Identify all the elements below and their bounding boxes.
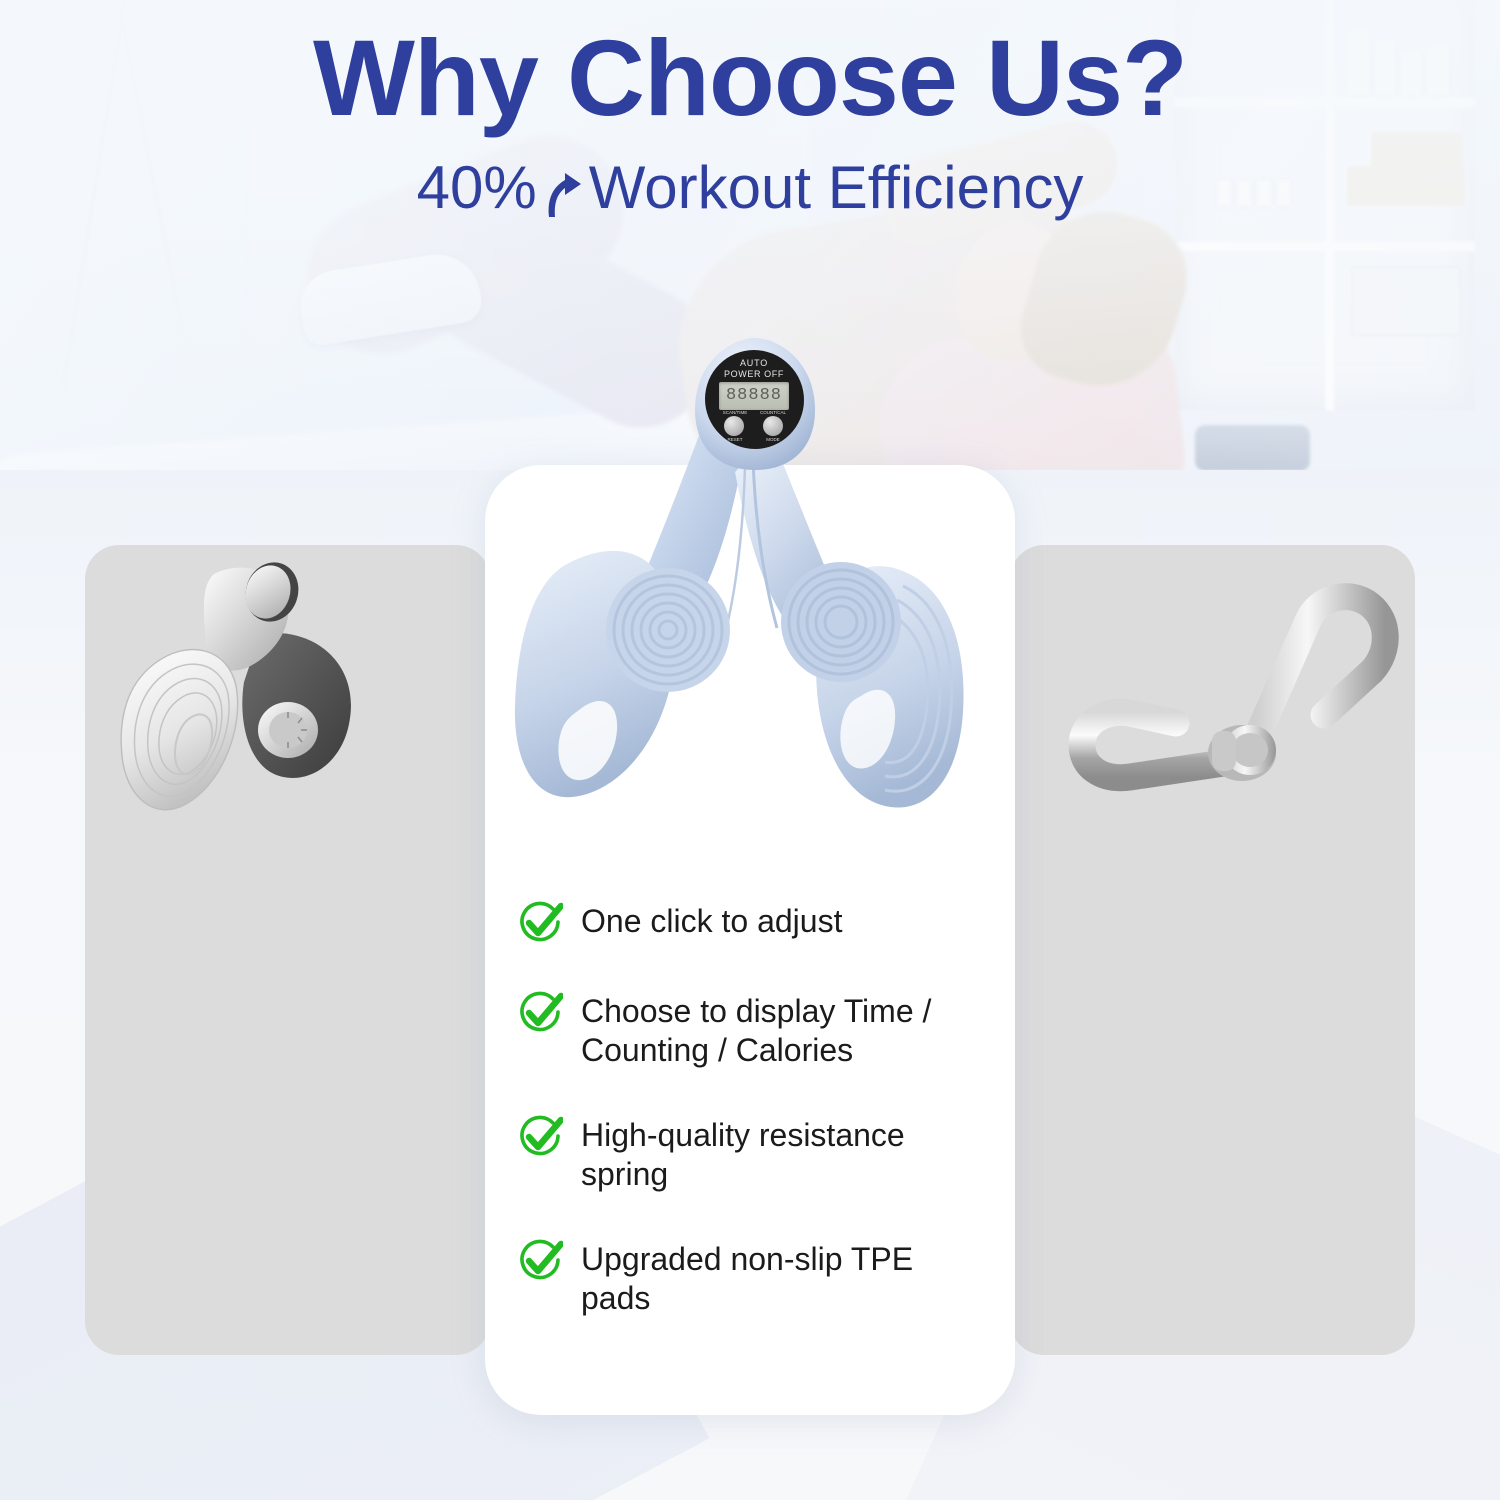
list-item: Choose to display Time / Counting / Calo… [517, 990, 987, 1070]
list-item: Upgraded non-slip TPE pads [517, 1238, 987, 1318]
page-title: Why Choose Us? [0, 0, 1500, 132]
display-power-off-label: POWER OFF [705, 369, 803, 379]
display-button-left-bottom-label: RESET [717, 437, 753, 442]
competitor-thigh-trainer-gray-image [110, 552, 370, 822]
display-button-right-bottom-label: MODE [755, 437, 791, 442]
display-button-right[interactable] [763, 416, 783, 436]
subtitle-text: Workout Efficiency [589, 158, 1084, 218]
list-item-label: High-quality resistance spring [581, 1114, 987, 1194]
list-item-label: One click to adjust [581, 900, 842, 941]
list-item: One click to adjust [517, 900, 987, 946]
check-circle-icon [517, 1238, 563, 1284]
display-button-left[interactable] [724, 416, 744, 436]
check-circle-icon [517, 1114, 563, 1160]
display-auto-label: AUTO [705, 358, 803, 368]
header: Why Choose Us? 40% Workout Efficiency [0, 0, 1500, 218]
page-subtitle: 40% Workout Efficiency [0, 132, 1500, 218]
featured-feature-list: One click to adjustChoose to display Tim… [485, 900, 1015, 1362]
arrow-up-trend-icon [539, 163, 587, 221]
product-display-module: AUTO POWER OFF 88888 SCAN/TIME RESET COU… [705, 350, 803, 448]
list-item-label: Choose to display Time / Counting / Calo… [581, 990, 987, 1070]
competitor-thigh-master-gray-image [1060, 575, 1425, 830]
check-circle-icon [517, 900, 563, 946]
display-lcd-value: 88888 [719, 382, 789, 410]
display-lcd-screen: 88888 [719, 382, 789, 410]
check-circle-icon [517, 990, 563, 1036]
list-item-label: Upgraded non-slip TPE pads [581, 1238, 987, 1318]
list-item: High-quality resistance spring [517, 1114, 987, 1194]
display-button-left-top-label: SCAN/TIME [717, 410, 753, 415]
subtitle-percent: 40% [417, 158, 537, 218]
display-button-right-top-label: COUNT/CAL [755, 410, 791, 415]
